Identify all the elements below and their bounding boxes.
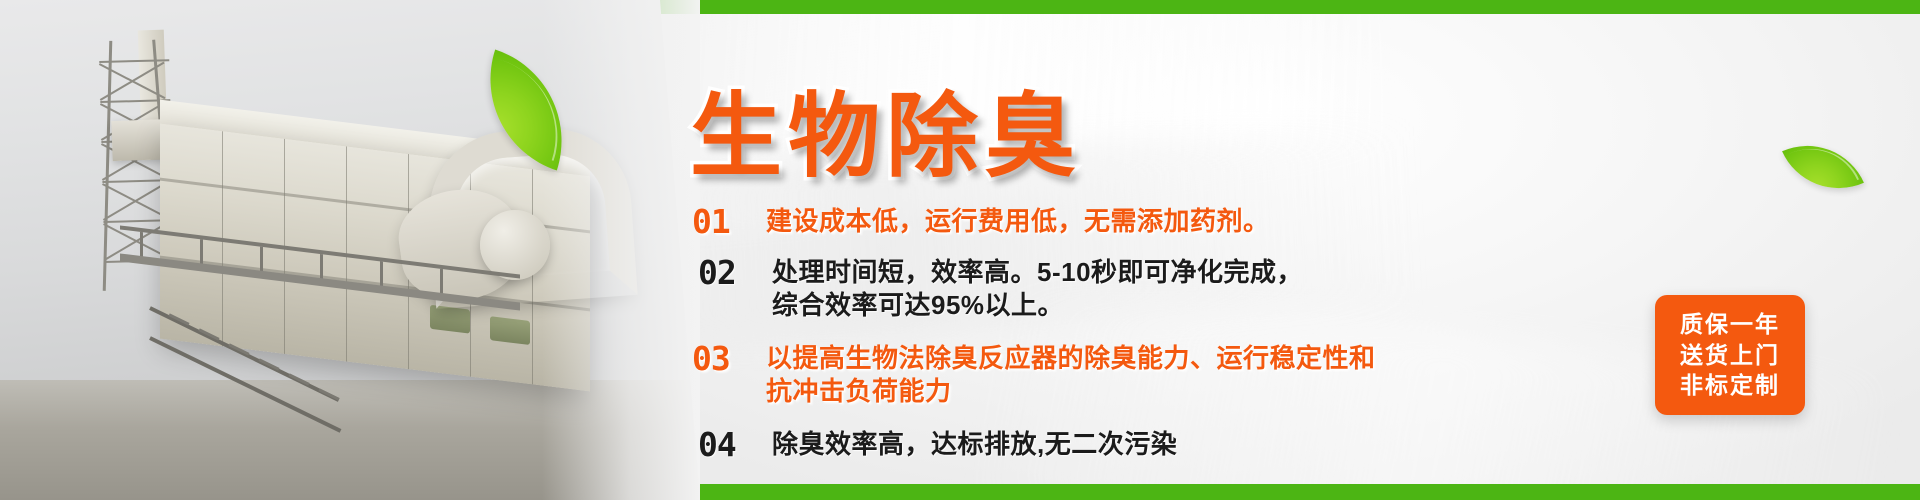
feature-text: 建设成本低，运行费用低，无需添加药剂。: [766, 205, 1270, 238]
photo-stairs: [150, 292, 380, 412]
feature-item-04: 04 除臭效率高，达标排放,无二次污染: [698, 428, 1177, 461]
promo-banner: 生物除臭 01 建设成本低，运行费用低，无需添加药剂。 02 处理时间短，效率高…: [0, 0, 1920, 500]
feature-text: 除臭效率高，达标排放,无二次污染: [772, 428, 1177, 461]
feature-item-01: 01 建设成本低，运行费用低，无需添加药剂。: [692, 205, 1270, 238]
feature-item-03: 03 以提高生物法除臭反应器的除臭能力、运行稳定性和 抗冲击负荷能力: [692, 342, 1376, 409]
badge-line-2: 送货上门: [1680, 340, 1780, 371]
feature-item-02: 02 处理时间短，效率高。5-10秒即可净化完成， 综合效率可达95%以上。: [698, 256, 1303, 323]
feature-text: 以提高生物法除臭反应器的除臭能力、运行稳定性和 抗冲击负荷能力: [766, 342, 1376, 409]
badge-line-1: 质保一年: [1680, 309, 1780, 340]
banner-content: 生物除臭 01 建设成本低，运行费用低，无需添加药剂。 02 处理时间短，效率高…: [690, 0, 1920, 500]
photo-blower-disc: [480, 210, 550, 280]
badge-line-3: 非标定制: [1680, 370, 1780, 401]
guarantee-badge: 质保一年 送货上门 非标定制: [1655, 295, 1805, 415]
equipment-photo: [0, 0, 700, 500]
feature-number: 03: [692, 342, 766, 375]
feature-number: 04: [698, 428, 772, 461]
feature-number: 02: [698, 256, 772, 289]
page-title: 生物除臭: [690, 62, 1082, 195]
feature-number: 01: [692, 205, 766, 238]
feature-text: 处理时间短，效率高。5-10秒即可净化完成， 综合效率可达95%以上。: [772, 256, 1303, 323]
